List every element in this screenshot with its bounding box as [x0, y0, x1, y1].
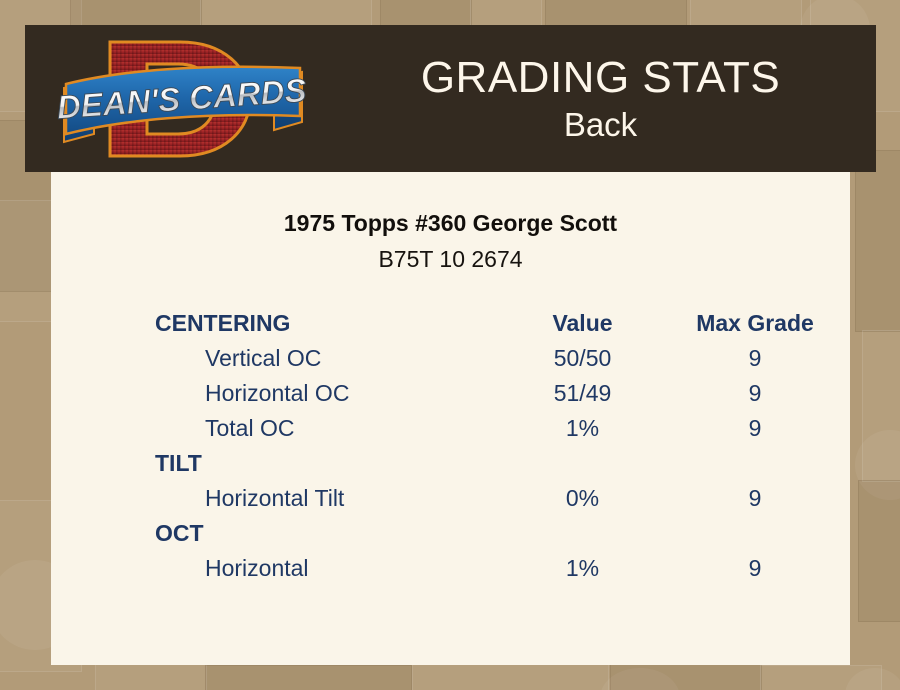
header-bar: DEAN'S CARDS GRADING STATS Back	[25, 25, 876, 172]
page-subtitle: Back	[564, 105, 637, 145]
deans-cards-logo: DEAN'S CARDS	[52, 30, 312, 168]
section-label: OCT	[155, 520, 500, 547]
row-value: 1%	[500, 555, 665, 582]
row-label: Horizontal OC	[155, 380, 500, 407]
row-label: Horizontal	[155, 555, 500, 582]
row-max-grade: 9	[665, 345, 845, 372]
row-value: 50/50	[500, 345, 665, 372]
table-section-oct: OCT	[155, 520, 845, 555]
row-label: Horizontal Tilt	[155, 485, 500, 512]
column-header-value: Value	[500, 310, 665, 337]
row-max-grade: 9	[665, 485, 845, 512]
column-header-max-grade: Max Grade	[665, 310, 845, 337]
row-value: 0%	[500, 485, 665, 512]
table-section-tilt: TILT	[155, 450, 845, 485]
logo-graphic: DEAN'S CARDS	[52, 30, 312, 168]
table-row: Horizontal OC 51/49 9	[155, 380, 845, 415]
table-row: Horizontal Tilt 0% 9	[155, 485, 845, 520]
table-row: Vertical OC 50/50 9	[155, 345, 845, 380]
row-max-grade: 9	[665, 415, 845, 442]
row-label: Vertical OC	[155, 345, 500, 372]
header-title-group: GRADING STATS Back	[325, 25, 876, 172]
row-max-grade: 9	[665, 555, 845, 582]
row-label: Total OC	[155, 415, 500, 442]
grading-stats-table: CENTERING Value Max Grade Vertical OC 50…	[155, 310, 845, 590]
row-value: 1%	[500, 415, 665, 442]
section-label: TILT	[155, 450, 500, 477]
content-panel: 1975 Topps #360 George Scott B75T 10 267…	[51, 172, 850, 665]
table-row: Total OC 1% 9	[155, 415, 845, 450]
table-row: Horizontal 1% 9	[155, 555, 845, 590]
page-title: GRADING STATS	[421, 53, 780, 103]
row-value: 51/49	[500, 380, 665, 407]
card-identifier: B75T 10 2674	[51, 246, 850, 273]
card-title: 1975 Topps #360 George Scott	[51, 210, 850, 237]
section-label: CENTERING	[155, 310, 500, 337]
row-max-grade: 9	[665, 380, 845, 407]
table-section-centering: CENTERING Value Max Grade	[155, 310, 845, 345]
